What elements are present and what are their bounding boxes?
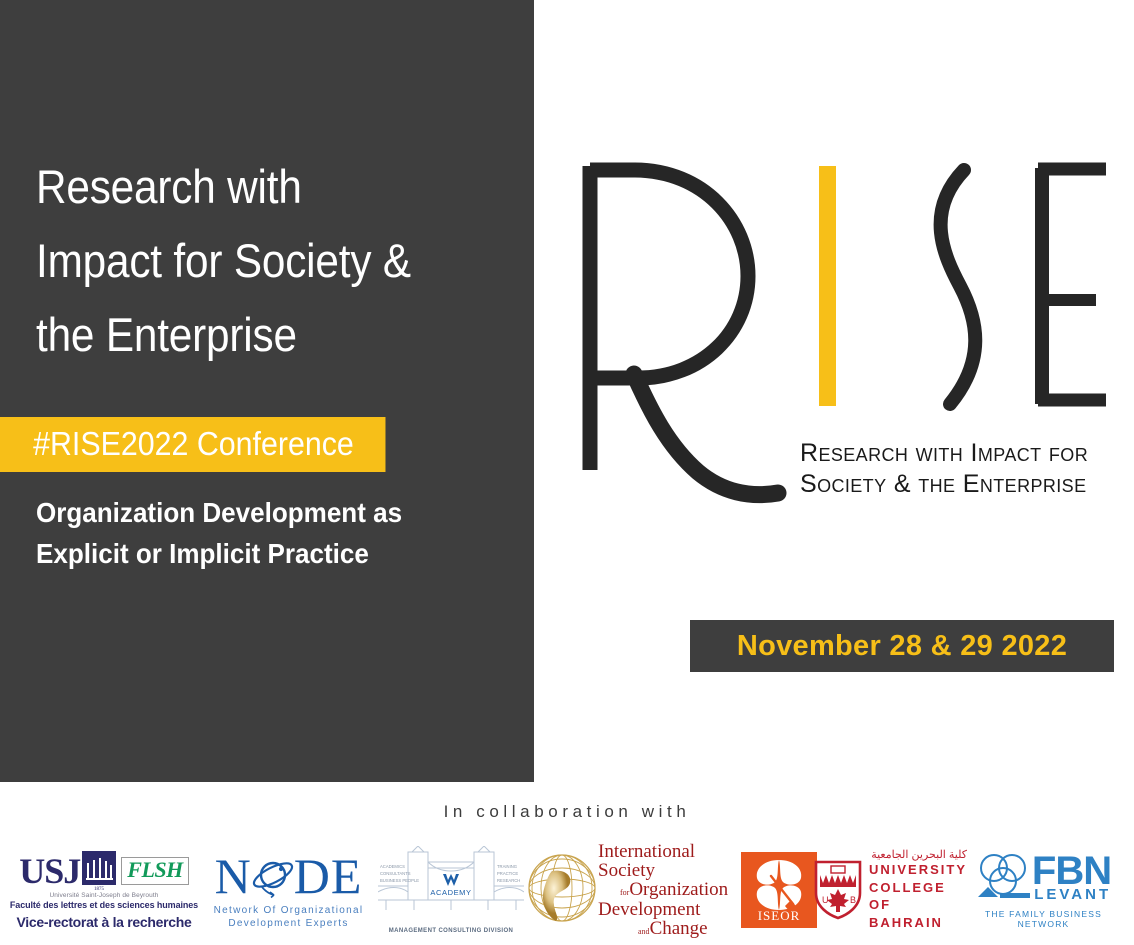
- fbn-wordmark: FBN LEVANT: [1032, 853, 1111, 903]
- ucb-shield-letter-b: B: [850, 895, 856, 905]
- academy-right-item-2: PRACTICE: [497, 871, 518, 876]
- conference-date: November 28 & 29 2022: [737, 630, 1067, 663]
- conference-hashtag-badge: #RISE2022 Conference: [0, 417, 385, 472]
- usj-department-name: Vice-rectorat à la recherche: [16, 914, 191, 930]
- conference-tag-wrapper: #RISE2022 Conference: [0, 417, 419, 472]
- ucb-line-1: UNIVERSITY: [869, 861, 967, 879]
- rise-logo-tagline: Research with Impact for Society & the E…: [800, 438, 1120, 500]
- subtitle-line-1: Organization Development as: [36, 492, 464, 533]
- academy-wordmark: ACADEMY: [430, 888, 471, 897]
- isodc-line-4: andChange: [598, 919, 738, 938]
- ucb-line-2: COLLEGE: [869, 879, 967, 897]
- academy-left-item-2: CONSULTANTS: [380, 871, 411, 876]
- ucb-line-3: OF BAHRAIN: [869, 896, 967, 931]
- node-tagline-line-1: Network Of Organizational: [214, 905, 364, 916]
- usj-acronym: USJ: [19, 853, 80, 889]
- headline-line-1: Research with: [36, 150, 441, 224]
- ucb-shield-icon: U B: [813, 859, 863, 921]
- academy-right-item-1: TRAINING: [497, 864, 517, 869]
- ucb-wordmark: كلية البحرين الجامعية UNIVERSITY COLLEGE…: [869, 849, 967, 931]
- headline-line-2: Impact for Society &: [36, 224, 441, 298]
- left-dark-panel: [0, 0, 534, 782]
- partner-logo-usj: USJ 1875 FLSH Université Saint-Joseph de…: [8, 841, 200, 939]
- usj-faculty-name: Faculté des lettres et des sciences huma…: [10, 900, 198, 910]
- rise-letter-s-icon: [941, 170, 976, 404]
- partner-logo-isodc: International Society forOrganization De…: [526, 841, 738, 939]
- partner-logo-ucb: U B كلية البحرين الجامعية UNIVERSITY COL…: [820, 841, 960, 939]
- isodc-globe-icon: [526, 851, 598, 930]
- node-wordmark: N DE: [215, 851, 363, 901]
- node-tagline-line-2: Development Experts: [228, 918, 348, 929]
- fbn-circles-icon: [976, 851, 1030, 905]
- page-title: Research with Impact for Society & the E…: [36, 150, 441, 372]
- rise-letter-e-icon: [1038, 168, 1106, 404]
- collaboration-label: In collaboration with: [0, 802, 1134, 822]
- rise-letter-r-icon: [590, 166, 778, 495]
- partner-logo-strip: USJ 1875 FLSH Université Saint-Joseph de…: [0, 840, 1134, 940]
- academy-division-label: MANAGEMENT CONSULTING DIVISION: [389, 928, 514, 934]
- usj-university-name: Université Saint-Joseph de Beyrouth: [49, 892, 158, 899]
- isodc-wordmark: International Society forOrganization De…: [598, 842, 738, 939]
- isodc-line-3: Development: [598, 900, 738, 919]
- academy-right-item-3: RESEARCH: [497, 878, 520, 883]
- fbn-tagline: THE FAMILY BUSINESS NETWORK: [961, 909, 1126, 929]
- rise-tagline-line-1: Research with Impact for: [800, 438, 1120, 469]
- partner-logo-iseor: ISEOR: [739, 841, 819, 939]
- partner-logo-academy: ACADEMY ACADEMICS CONSULTANTS BUSINESS P…: [377, 841, 525, 939]
- isodc-small-for: for: [620, 888, 629, 897]
- node-planet-icon: [250, 853, 296, 899]
- academy-left-item-1: ACADEMICS: [380, 864, 405, 869]
- poster-subtitle: Organization Development as Explicit or …: [36, 492, 464, 574]
- academy-bridge-icon: ACADEMY ACADEMICS CONSULTANTS BUSINESS P…: [378, 846, 524, 925]
- isodc-small-and: and: [638, 927, 650, 936]
- academy-left-item-3: BUSINESS PEOPLE: [380, 878, 419, 883]
- usj-emblem-icon: 1875: [82, 851, 116, 891]
- fbn-region: LEVANT: [1034, 886, 1111, 903]
- rise-tagline-line-2: Society & the Enterprise: [800, 469, 1120, 500]
- isodc-org: Organization: [629, 879, 728, 900]
- iseor-orange-tile: ISEOR: [741, 852, 817, 928]
- isodc-change: Change: [650, 918, 708, 939]
- partner-logo-node: N DE Network Of Organizational Developme…: [201, 841, 376, 939]
- usj-top-row: USJ 1875 FLSH: [19, 851, 189, 891]
- partner-logo-fbn: FBN LEVANT THE FAMILY BUSINESS NETWORK: [961, 841, 1126, 939]
- ucb-arabic-name: كلية البحرين الجامعية: [869, 849, 967, 861]
- conference-poster: Research with Impact for Society & the E…: [0, 0, 1134, 945]
- usj-flsh-box: FLSH: [121, 857, 188, 885]
- fbn-top-row: FBN LEVANT: [976, 851, 1111, 905]
- usj-year-badge: 1875: [94, 887, 105, 891]
- headline-line-3: the Enterprise: [36, 298, 441, 372]
- rise-letter-i-icon: [819, 166, 836, 406]
- subtitle-line-2: Explicit or Implicit Practice: [36, 533, 464, 574]
- isodc-line-1: International Society: [598, 842, 738, 881]
- date-banner: November 28 & 29 2022: [690, 620, 1114, 672]
- node-letter-n: N: [215, 851, 252, 901]
- ucb-shield-letter-u: U: [822, 895, 829, 905]
- iseor-acronym: ISEOR: [758, 908, 801, 924]
- flsh-acronym: FLSH: [127, 857, 182, 882]
- fbn-acronym: FBN: [1032, 853, 1111, 889]
- isodc-line-2: forOrganization: [598, 880, 738, 899]
- node-letters-de: DE: [294, 851, 363, 901]
